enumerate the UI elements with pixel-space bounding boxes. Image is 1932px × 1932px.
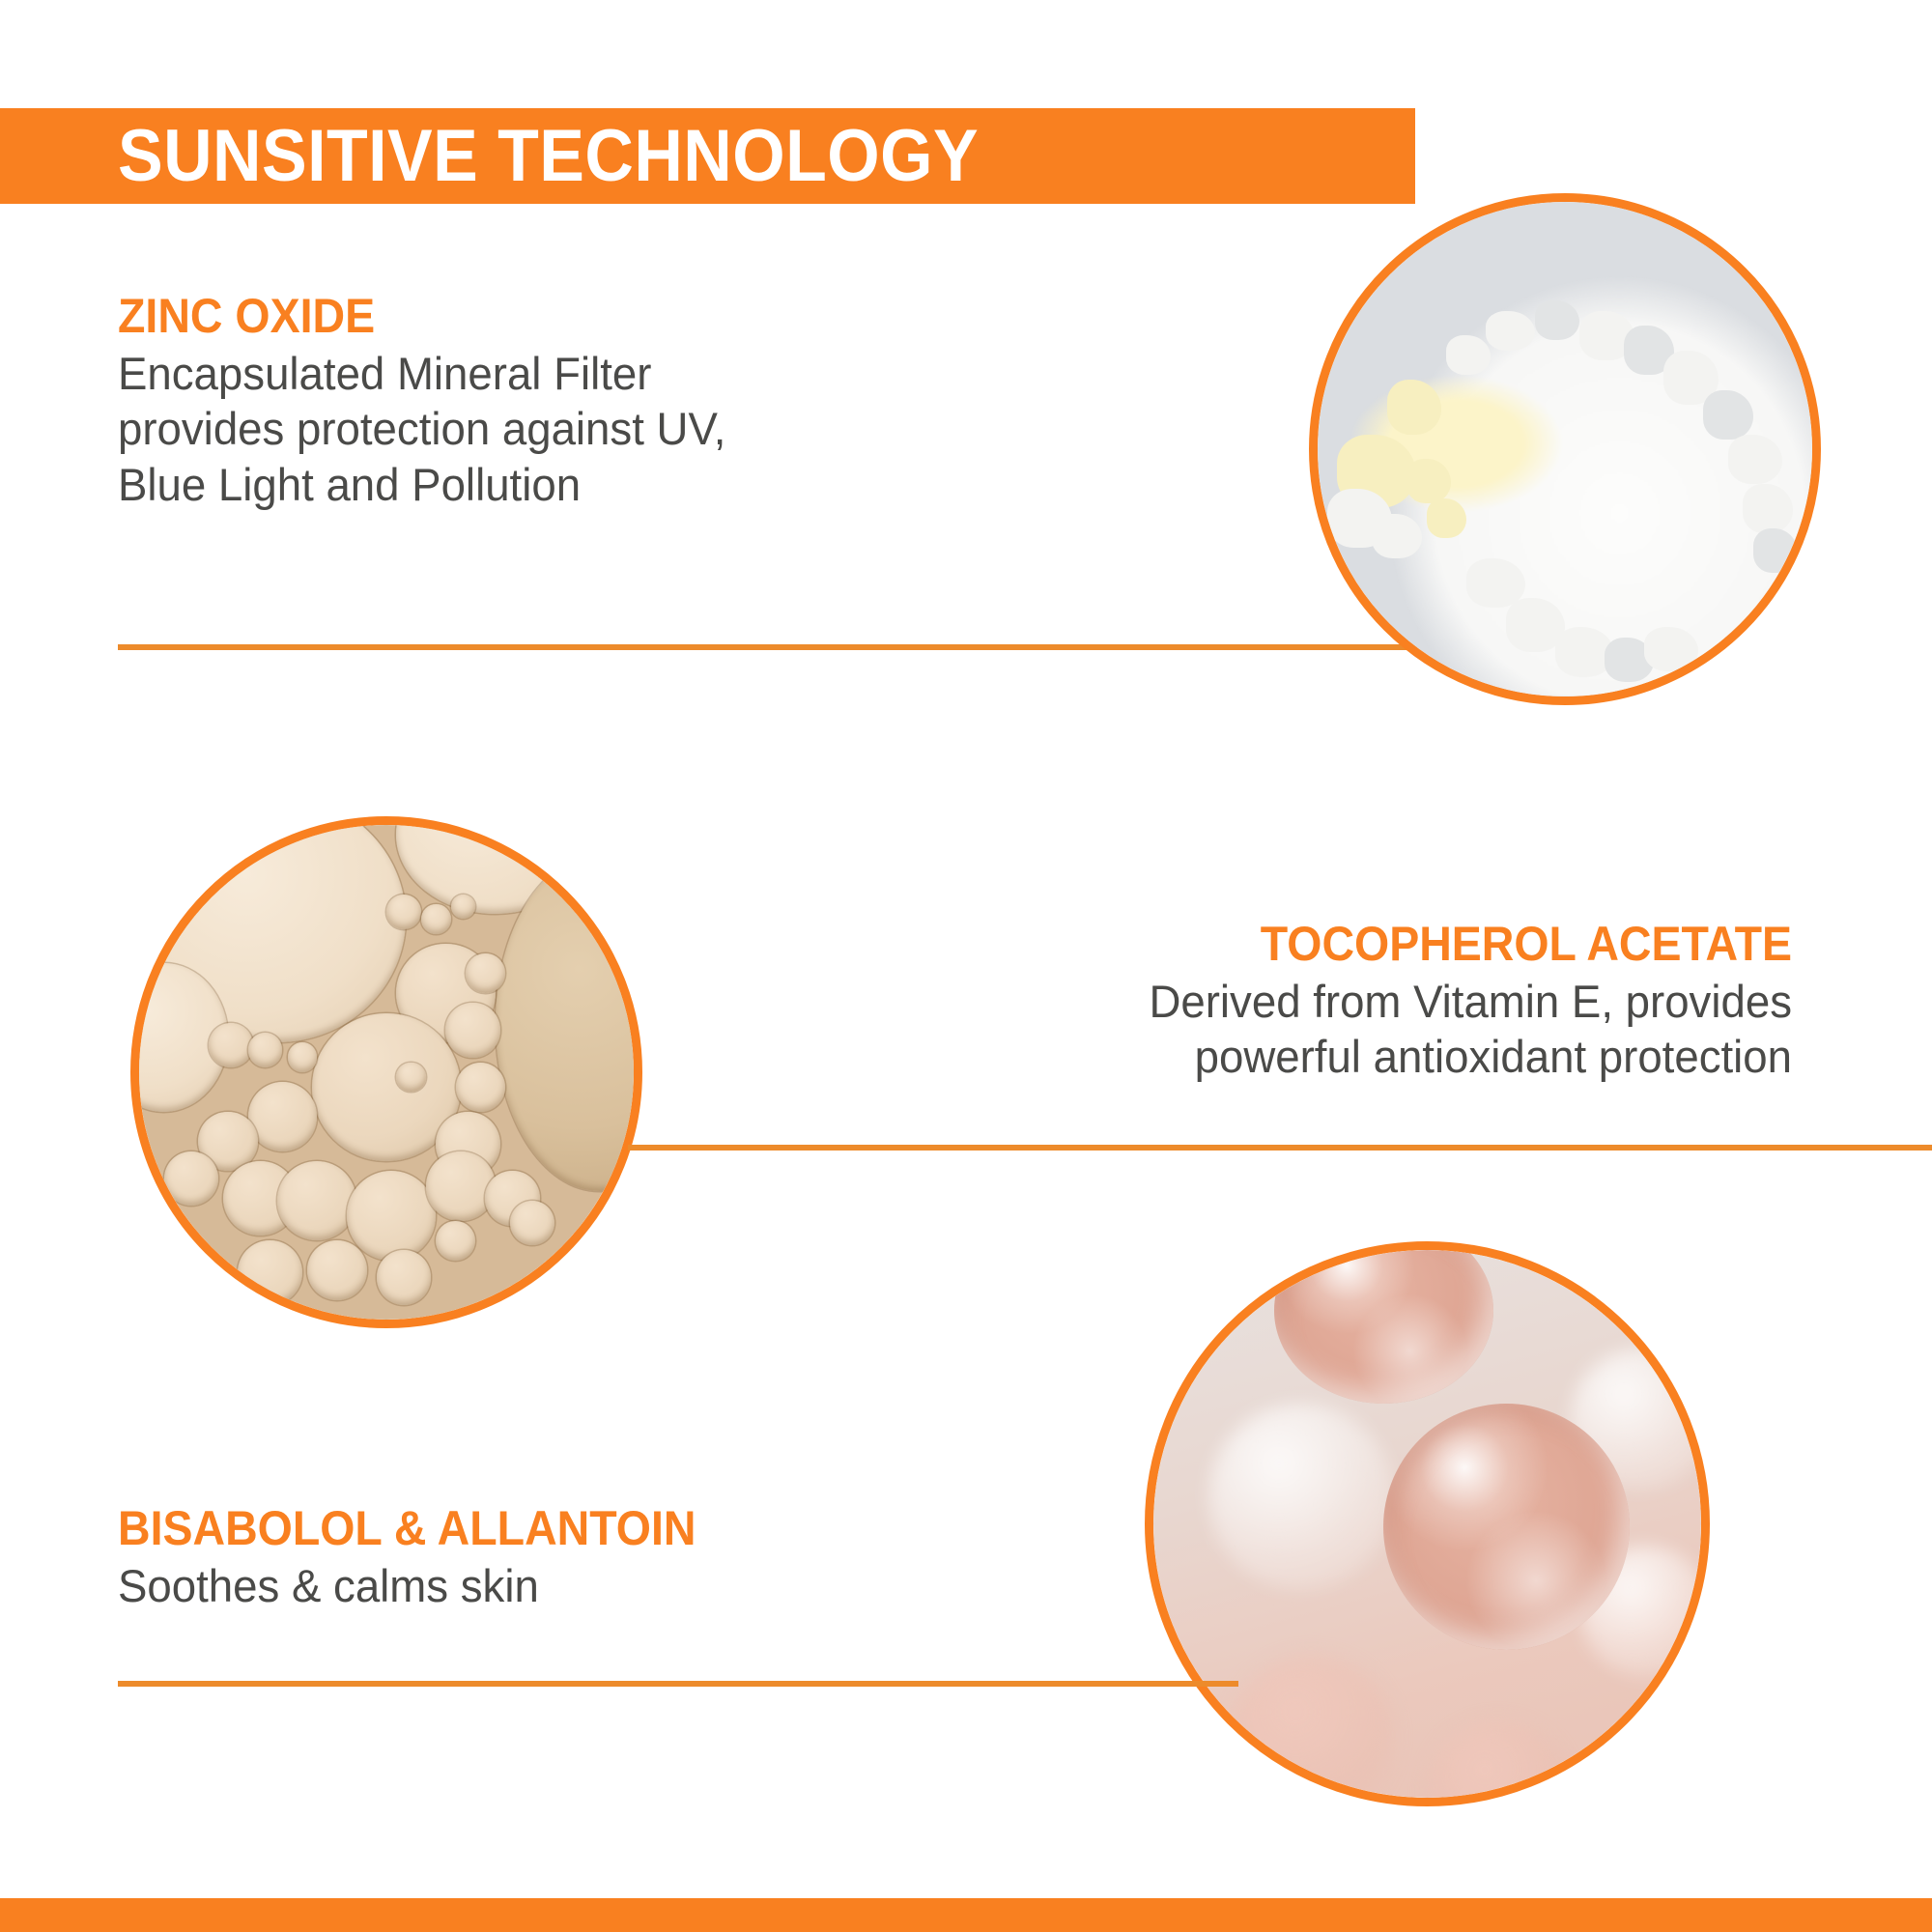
section-heading-bisabolol-allantoin: BISABOLOL & ALLANTOIN [118, 1502, 1016, 1554]
divider-bisabolol-allantoin [118, 1681, 1238, 1687]
zinc-oxide-powder-photo [1309, 193, 1821, 705]
section-heading-tocopherol-acetate: TOCOPHEROL ACETATE [849, 918, 1793, 970]
section-tocopherol-acetate: TOCOPHEROL ACETATE Derived from Vitamin … [778, 918, 1792, 1085]
header-banner: SUNSITIVE TECHNOLOGY [0, 108, 1415, 204]
oil-bubbles-photo [130, 816, 642, 1328]
footer-banner [0, 1898, 1932, 1932]
section-body-tocopherol-acetate: Derived from Vitamin E, provides powerfu… [809, 974, 1793, 1085]
section-body-zinc-oxide: Encapsulated Mineral Filter provides pro… [118, 346, 961, 512]
infographic-canvas: SUNSITIVE TECHNOLOGY ZINC OXIDE Encapsul… [0, 0, 1932, 1932]
divider-zinc-oxide [118, 644, 1412, 650]
divider-tocopherol-acetate [628, 1145, 1932, 1151]
section-bisabolol-allantoin: BISABOLOL & ALLANTOIN Soothes & calms sk… [118, 1502, 1084, 1613]
page-title: SUNSITIVE TECHNOLOGY [118, 120, 979, 193]
section-heading-zinc-oxide: ZINC OXIDE [118, 290, 926, 342]
pink-spheres-photo [1145, 1241, 1710, 1806]
section-body-bisabolol-allantoin: Soothes & calms skin [118, 1558, 1055, 1613]
section-zinc-oxide: ZINC OXIDE Encapsulated Mineral Filter p… [118, 290, 987, 512]
